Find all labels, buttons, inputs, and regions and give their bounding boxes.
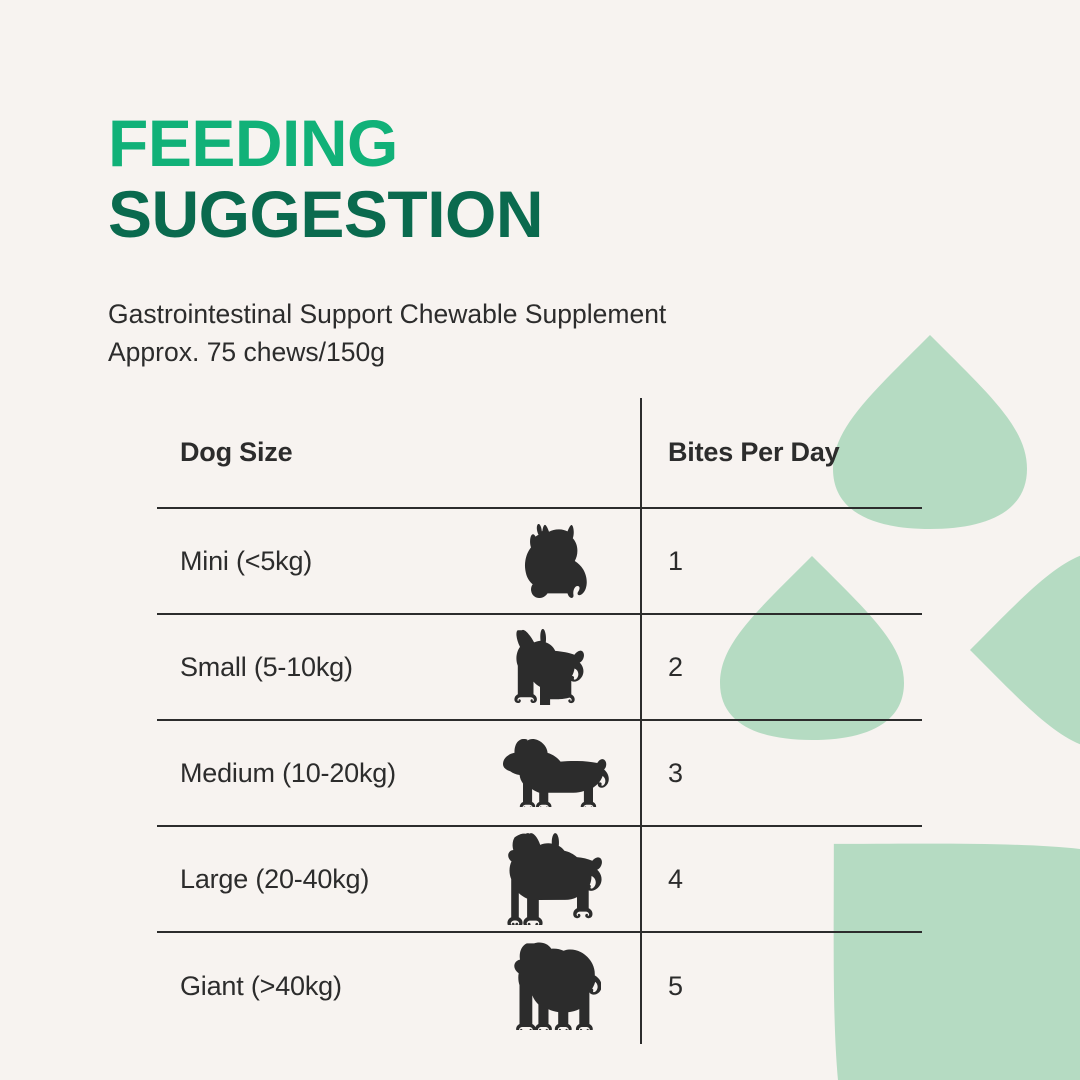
dog-boxer-icon <box>497 827 617 931</box>
dog-size-label: Medium (10-20kg) <box>180 758 396 789</box>
table-header-cell-size: Dog Size <box>157 398 640 507</box>
table-header-row: Dog Size Bites Per Day <box>157 398 922 509</box>
table-cell-bites: 1 <box>640 509 922 613</box>
page-title-line-1: FEEDING <box>108 108 543 179</box>
column-header-dog-size: Dog Size <box>180 437 292 468</box>
dog-chihuahua-icon <box>497 615 617 719</box>
leaf-icon-3 <box>970 550 1080 750</box>
subtitle-line-2: Approx. 75 chews/150g <box>108 334 666 372</box>
dog-sitting-toy-icon <box>497 509 617 613</box>
table-row: Giant (>40kg) 5 <box>157 933 922 1039</box>
dog-size-label: Large (20-40kg) <box>180 864 369 895</box>
table-cell-bites: 2 <box>640 615 922 719</box>
bites-per-day-value: 2 <box>668 652 683 683</box>
feeding-suggestion-card: FEEDING SUGGESTION Gastrointestinal Supp… <box>0 0 1080 1080</box>
feeding-table: Dog Size Bites Per Day Mini (<5kg) 1 <box>157 398 922 1039</box>
dog-size-label: Small (5-10kg) <box>180 652 353 683</box>
column-header-bites-per-day: Bites Per Day <box>668 437 840 468</box>
table-column-divider <box>640 398 642 1044</box>
table-row: Mini (<5kg) 1 <box>157 509 922 615</box>
subtitle-line-1: Gastrointestinal Support Chewable Supple… <box>108 296 666 334</box>
bites-per-day-value: 1 <box>668 546 683 577</box>
page-title-line-2: SUGGESTION <box>108 179 543 250</box>
dog-mastiff-icon <box>497 933 617 1039</box>
table-cell-bites: 4 <box>640 827 922 931</box>
bites-per-day-value: 4 <box>668 864 683 895</box>
dog-size-label: Giant (>40kg) <box>180 971 342 1002</box>
bites-per-day-value: 5 <box>668 971 683 1002</box>
table-cell-bites: 5 <box>640 933 922 1039</box>
table-cell-bites: 3 <box>640 721 922 825</box>
page-title: FEEDING SUGGESTION <box>108 108 543 251</box>
table-header-cell-bites: Bites Per Day <box>640 398 922 507</box>
product-subtitle: Gastrointestinal Support Chewable Supple… <box>108 296 666 371</box>
table-row: Small (5-10kg) 2 <box>157 615 922 721</box>
dog-size-label: Mini (<5kg) <box>180 546 312 577</box>
dog-dachshund-icon <box>497 721 617 825</box>
table-row: Large (20-40kg) 4 <box>157 827 922 933</box>
table-row: Medium (10-20kg) 3 <box>157 721 922 827</box>
bites-per-day-value: 3 <box>668 758 683 789</box>
